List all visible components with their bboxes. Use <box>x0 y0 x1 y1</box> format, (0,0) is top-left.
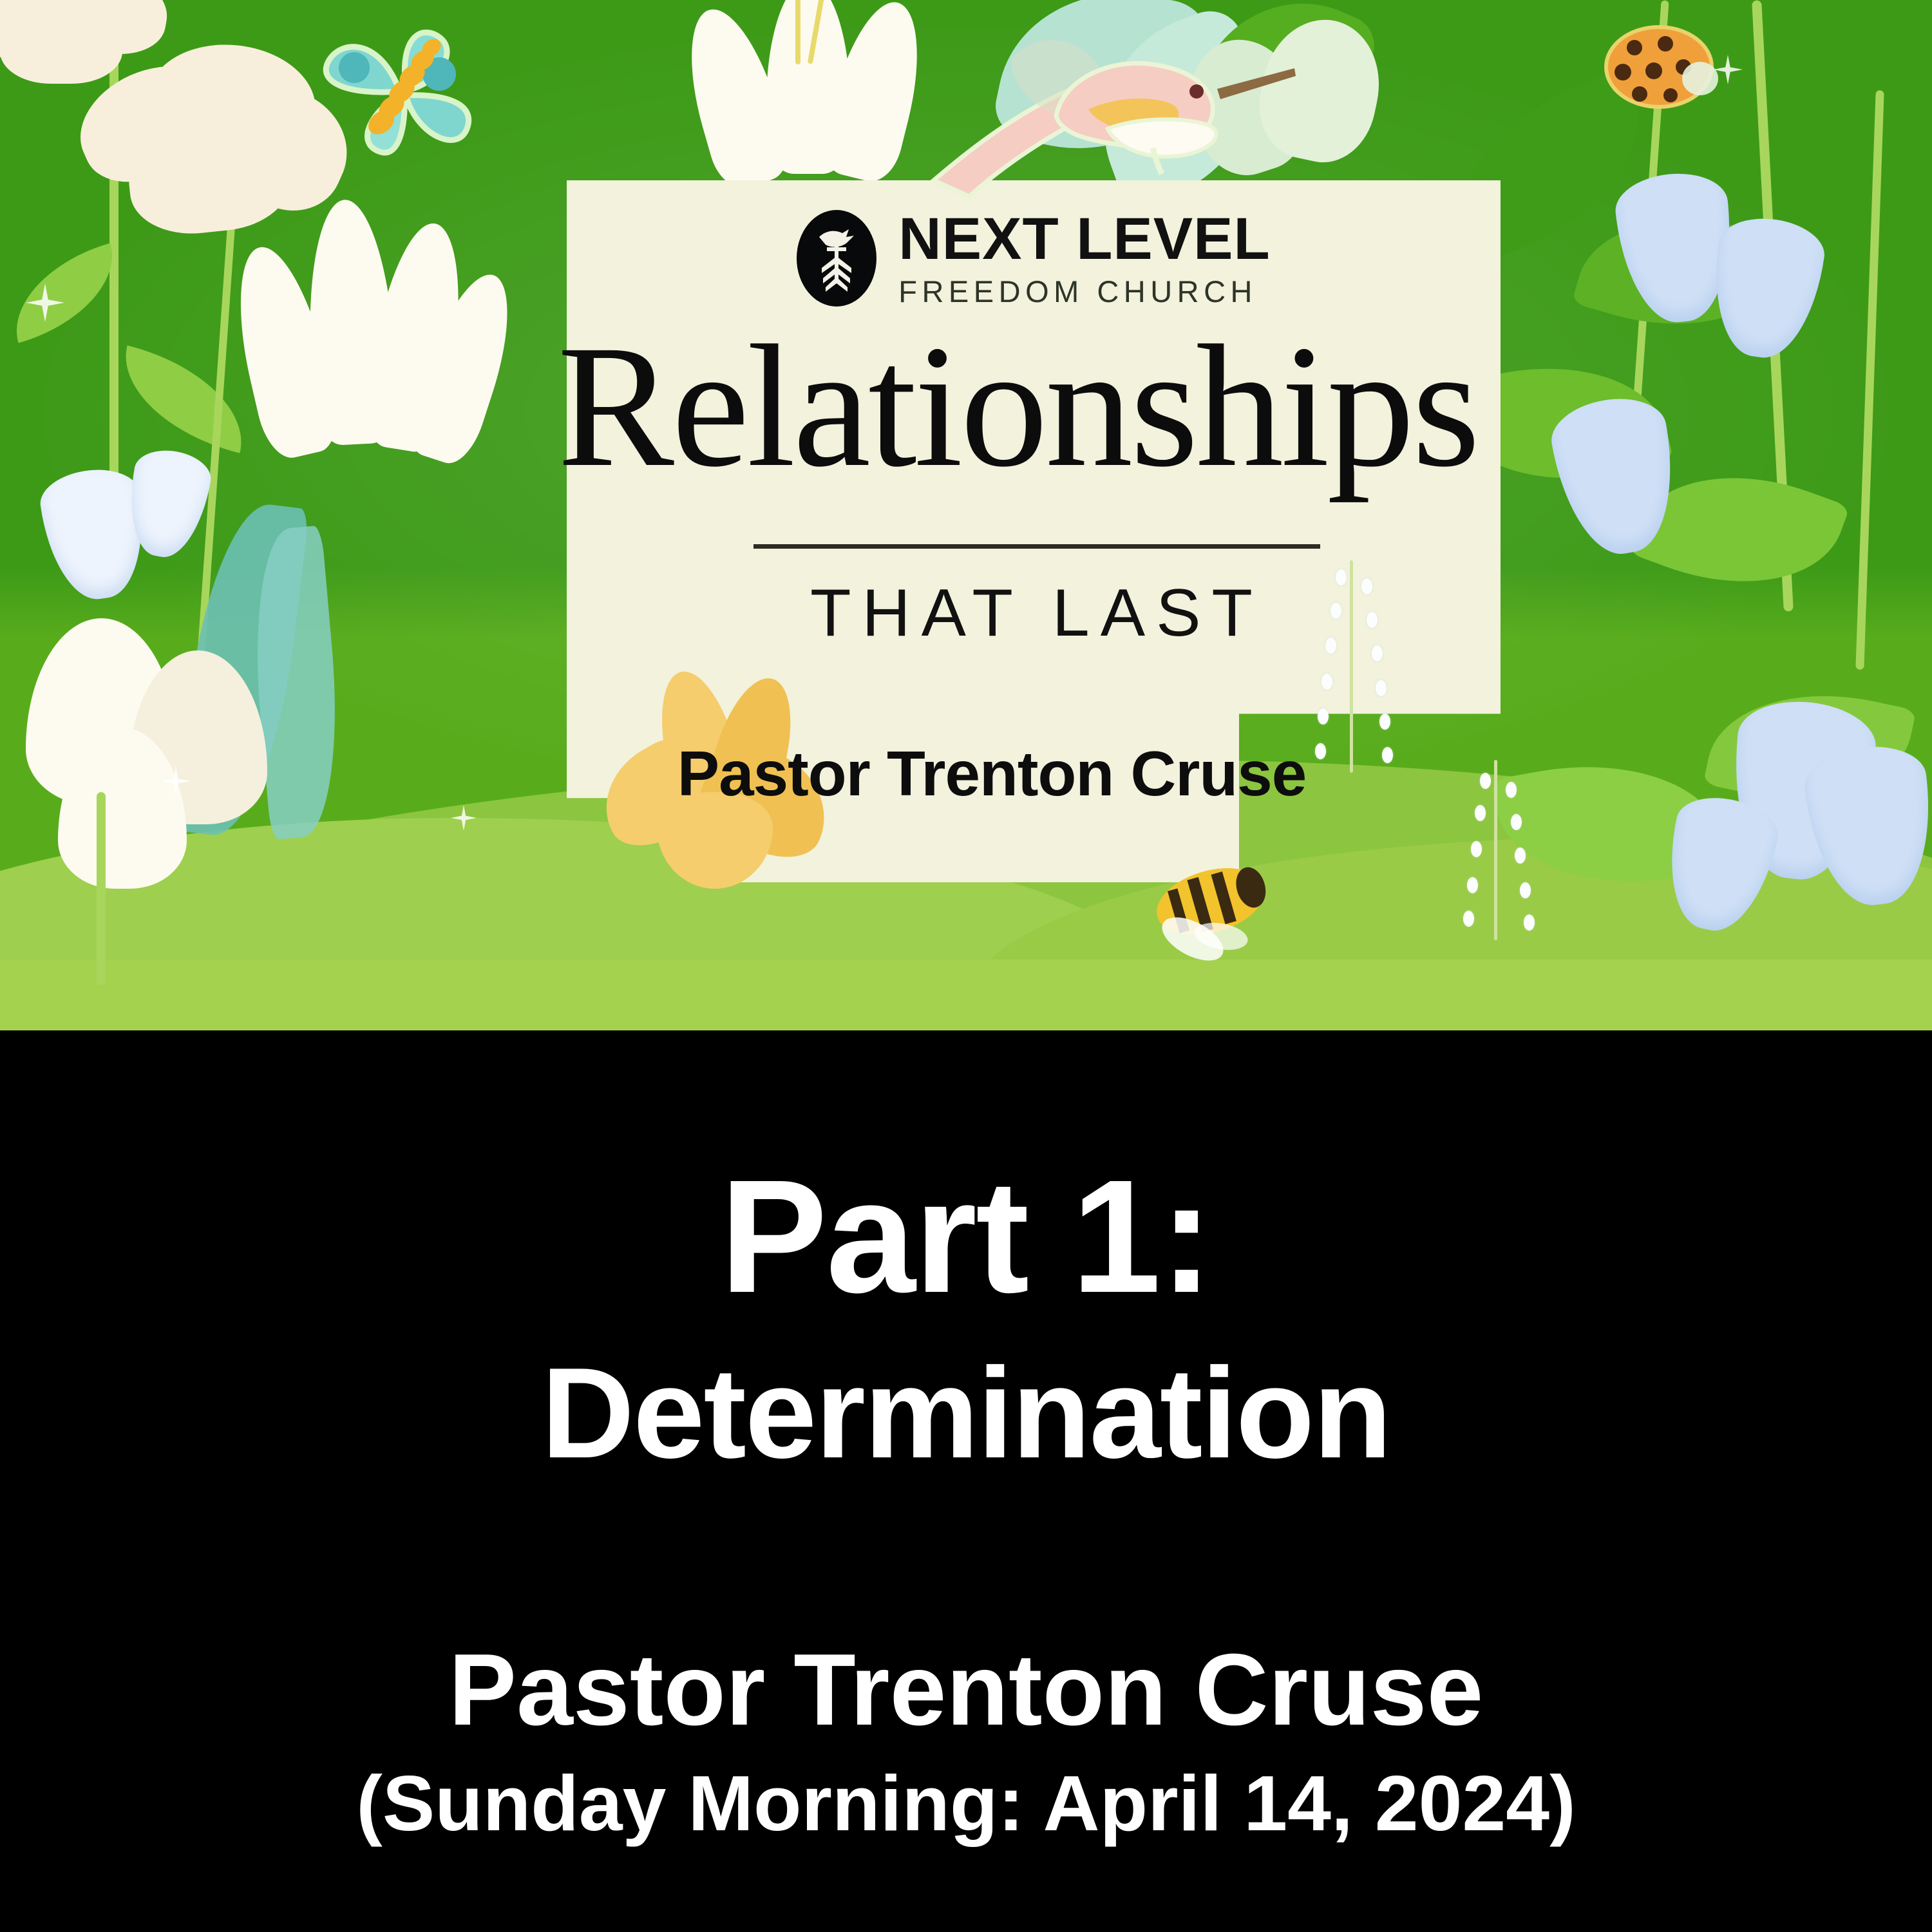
series-byline: Pastor Trenton Cruse <box>644 737 1340 810</box>
sermon-title-card: NEXT LEVEL FREEDOM CHURCH Relationships … <box>0 0 1932 1932</box>
sermon-topic: Determination <box>542 1349 1391 1478</box>
title-divider-rule <box>753 544 1320 549</box>
church-logo-wordmark: NEXT LEVEL FREEDOM CHURCH <box>898 209 1270 307</box>
church-name-line2: FREEDOM CHURCH <box>898 276 1270 307</box>
ladybug-icon <box>1604 19 1719 116</box>
series-title: Relationships <box>367 319 1668 494</box>
hummingbird-icon <box>895 19 1307 219</box>
sermon-speaker: Pastor Trenton Cruse <box>449 1639 1484 1741</box>
sermon-part-label: Part 1: <box>720 1156 1212 1317</box>
ground-strip <box>0 960 1932 1030</box>
series-subtitle: THAT LAST <box>715 580 1359 647</box>
church-logo: NEXT LEVEL FREEDOM CHURCH <box>567 209 1501 307</box>
butterfly-icon <box>303 13 509 161</box>
dove-cross-logo-icon <box>797 210 876 307</box>
series-artwork-panel: NEXT LEVEL FREEDOM CHURCH Relationships … <box>0 0 1932 1030</box>
sermon-service-date: (Sunday Morning: April 14, 2024) <box>356 1764 1576 1842</box>
series-title-card: NEXT LEVEL FREEDOM CHURCH Relationships … <box>567 180 1501 882</box>
sermon-info-panel: Part 1: Determination Pastor Trenton Cru… <box>0 1030 1932 1932</box>
series-title-card-content: NEXT LEVEL FREEDOM CHURCH Relationships … <box>567 180 1501 882</box>
bee-icon <box>1133 857 1288 979</box>
stem-tulip-left <box>97 792 106 985</box>
